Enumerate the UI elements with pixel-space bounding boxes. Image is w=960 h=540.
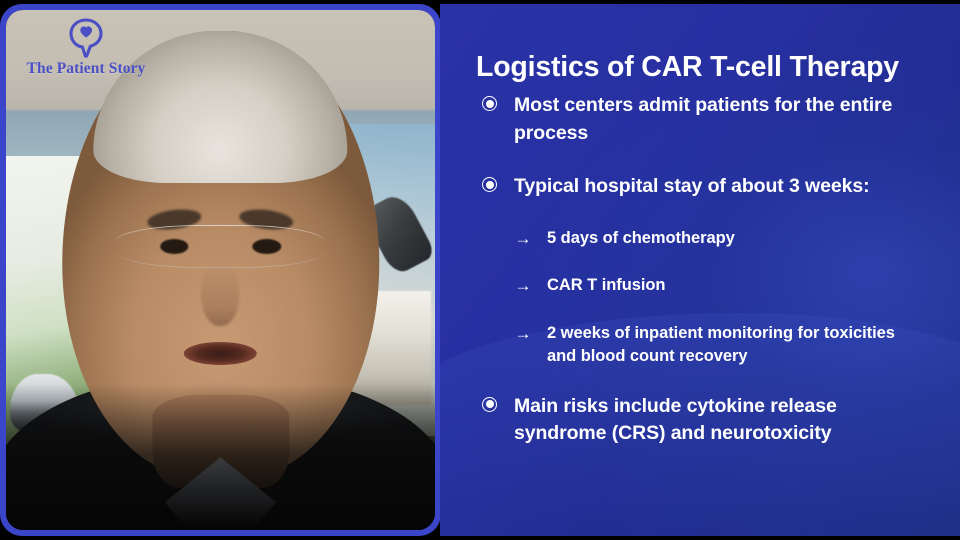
bullet-text: Main risks include cytokine release synd… [514,393,918,448]
video-vignette [6,384,435,530]
heart-speech-bubble-icon [69,18,103,58]
speaker-eyeglasses [116,225,326,267]
bullet-item: Main risks include cytokine release synd… [476,393,946,448]
letterbox-top [0,0,960,4]
content-panel: Logistics of CAR T-cell Therapy Most cen… [440,4,960,536]
bullet-text: Typical hospital stay of about 3 weeks: [514,173,870,201]
arrow-right-icon: → [514,323,532,344]
arrow-right-icon: → [514,275,532,296]
sub-bullet-text: CAR T infusion [547,274,665,297]
bullet-list: Most centers admit patients for the enti… [476,92,946,448]
slide-title: Logistics of CAR T-cell Therapy [476,51,944,84]
bullet-text: Most centers admit patients for the enti… [514,92,918,147]
brand-logo: The Patient Story [20,18,152,78]
video-frame: The Patient Story [6,10,435,530]
bullet-item: Typical hospital stay of about 3 weeks: [476,173,946,201]
speaker-nose [201,263,239,326]
sub-bullet-text: 2 weeks of inpatient monitoring for toxi… [547,322,917,369]
ring-dot-bullet-icon [482,96,497,111]
bullet-item: Most centers admit patients for the enti… [476,92,946,147]
ring-dot-bullet-icon [482,177,497,192]
sub-bullet-text: 5 days of chemotherapy [547,227,735,250]
presentation-slide: The Patient Story Logistics of CAR T-cel… [0,0,960,540]
brand-logo-text: The Patient Story [20,60,152,78]
ring-dot-bullet-icon [482,397,497,412]
arrow-right-icon: → [514,228,532,249]
letterbox-bottom [0,536,960,540]
sub-bullet-item: → CAR T infusion [476,274,946,297]
speaker-mouth [184,342,257,365]
speaker-video-panel[interactable]: The Patient Story [0,4,441,536]
sub-bullet-item: → 5 days of chemotherapy [476,227,946,250]
sub-bullet-item: → 2 weeks of inpatient monitoring for to… [476,322,946,369]
